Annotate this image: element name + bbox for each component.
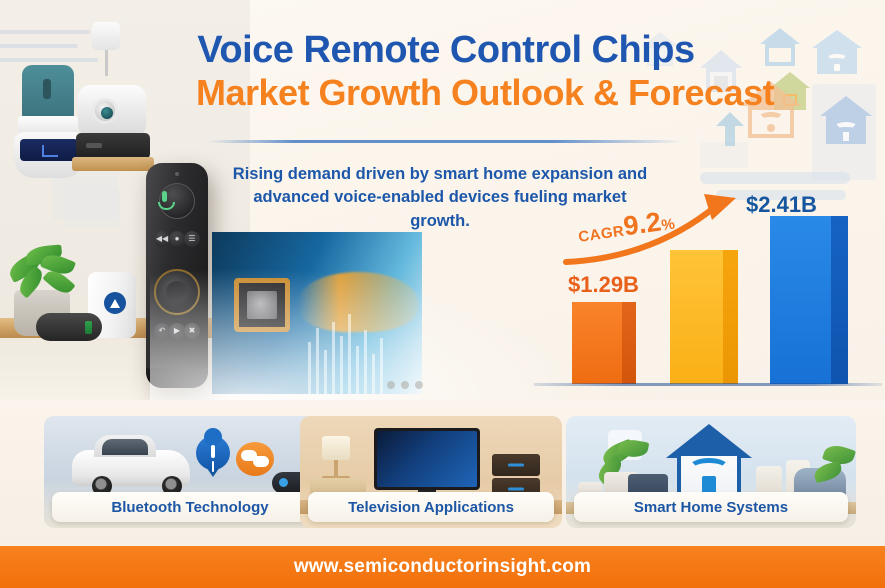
infographic-poster: ◀◀ ● ☰ ↶ ▶ ✖ — [0, 0, 885, 588]
cagr-value: 9.2 — [622, 206, 663, 241]
title-line-1: Voice Remote Control Chips — [196, 30, 696, 71]
card-label-television: Television Applications — [308, 492, 554, 522]
card-label-smart-home: Smart Home Systems — [574, 492, 848, 522]
house-icon — [760, 28, 800, 68]
microchip-icon — [234, 278, 290, 332]
carousel-dots — [387, 381, 423, 389]
website-url[interactable]: www.semiconductorinsight.com — [294, 556, 591, 578]
volume-button[interactable]: ✖ — [184, 323, 200, 339]
home-button[interactable]: ● — [169, 231, 185, 247]
house-icon — [666, 424, 752, 502]
speaker-badge-icon — [104, 292, 126, 314]
menu-button[interactable]: ☰ — [184, 231, 200, 247]
card-television-applications[interactable]: Television Applications — [300, 416, 562, 528]
location-pin-icon — [196, 436, 230, 470]
microchip-graphic — [212, 232, 422, 394]
tv-screen — [377, 431, 477, 487]
equalizer-bar — [340, 336, 343, 394]
rewind-button[interactable]: ◀◀ — [154, 231, 170, 247]
title-divider — [208, 140, 684, 143]
camera-lens-icon — [92, 98, 118, 124]
card-label-bluetooth: Bluetooth Technology — [52, 492, 328, 522]
wooden-base — [72, 157, 154, 171]
equalizer-bar — [316, 328, 319, 394]
soundwave-graphic — [298, 272, 418, 332]
play-pause-button[interactable]: ▶ — [169, 323, 185, 339]
equalizer-bar — [348, 314, 351, 394]
category-cards-section: Bluetooth Technology Television Applicat… — [0, 400, 885, 546]
bar-segment-1 — [572, 302, 636, 384]
cagr-prefix: CAGR — [577, 223, 625, 246]
equalizer-bar — [308, 342, 311, 394]
ceiling-light-icon — [92, 22, 120, 50]
wall-line — [0, 44, 78, 48]
lamp-icon — [322, 436, 350, 460]
equalizer-bar — [372, 354, 375, 394]
growth-bar-chart: CAGR9.2% $1.29B $2.41B — [540, 168, 885, 402]
equalizer-bar — [324, 350, 327, 394]
chat-bubble-icon — [236, 442, 274, 476]
voice-remote: ◀◀ ● ☰ ↶ ▶ ✖ — [146, 163, 208, 388]
bar-segment-3 — [770, 216, 848, 384]
footer-bar: www.semiconductorinsight.com — [0, 546, 885, 588]
bar-value-label-start: $1.29B — [568, 272, 639, 298]
smart-device-teal — [22, 65, 74, 119]
top-section: ◀◀ ● ☰ ↶ ▶ ✖ — [0, 0, 885, 402]
wall-line — [0, 58, 98, 62]
smart-speaker-puck — [36, 313, 102, 341]
house-roof — [666, 424, 752, 458]
page-title: Voice Remote Control Chips Market Growth… — [196, 30, 696, 113]
drawer-icon — [492, 454, 540, 476]
back-button[interactable]: ↶ — [154, 323, 170, 339]
smart-device-dark — [76, 133, 150, 159]
remote-base — [146, 368, 208, 388]
bar-segment-2 — [670, 250, 738, 384]
arrow-up-icon — [716, 112, 744, 148]
wall-line — [0, 30, 90, 34]
equalizer-bar — [380, 338, 383, 394]
remote-led-icon — [175, 172, 179, 176]
cagr-suffix: % — [660, 216, 676, 235]
wifi-house-icon — [820, 96, 872, 146]
bar-value-label-end: $2.41B — [746, 192, 817, 218]
card-bluetooth-technology[interactable]: Bluetooth Technology — [44, 416, 336, 528]
title-line-2: Market Growth Outlook & Forecast — [196, 73, 696, 113]
chart-baseline — [534, 383, 882, 386]
equalizer-bar — [332, 322, 335, 394]
smart-camera-device — [78, 85, 146, 137]
card-smart-home-systems[interactable]: Smart Home Systems — [566, 416, 856, 528]
television-icon — [374, 428, 480, 490]
equalizer-bar — [356, 346, 359, 394]
navigation-dpad[interactable] — [154, 269, 200, 315]
wall-panel — [64, 186, 120, 228]
wifi-house-icon — [812, 30, 862, 76]
smart-device-screen — [20, 139, 78, 161]
bubble-shape — [253, 456, 269, 467]
microphone-icon — [162, 191, 167, 202]
equalizer-bar — [364, 330, 367, 394]
